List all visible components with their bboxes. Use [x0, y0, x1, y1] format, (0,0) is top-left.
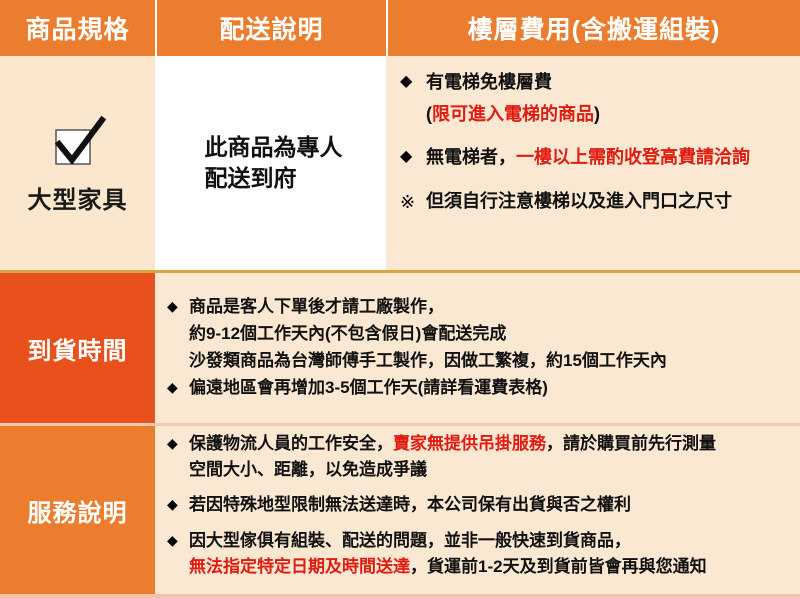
- header-label-floor-fee: 樓層費用(含搬運組裝): [468, 10, 721, 46]
- bullet-continuation: 沙發類商品為台灣師傅手工製作，因做工繁複，約15個工作天內: [167, 349, 790, 373]
- bullet-segment: 但須自行注意樓梯以及進入門口之尺寸: [426, 191, 732, 211]
- row-label-arrival-time: 到貨時間: [28, 331, 128, 366]
- bullet-text: 商品是客人下單後才請工廠製作，: [189, 295, 790, 319]
- header-cell-delivery-note: 配送說明: [157, 0, 386, 56]
- bullet-item: ◆ 保護物流人員的工作安全，賣家無提供吊掛服務，請於購買前先行測量: [167, 432, 790, 456]
- floor-fee-content-cell: ◆ 有電梯免樓層費 (限可進入電梯的商品) ◆ 無電梯者，一樓以上需酌收登高費請…: [386, 56, 800, 270]
- bullet-segment: 無電梯者，: [426, 147, 516, 167]
- bullet-segment: 沙發類商品為台灣師傅手工製作，因做工繁複，約15個工作天內: [189, 351, 667, 370]
- bullet-segment: 偏遠地區會再增加3-5個工作天(請詳看運費表格): [189, 378, 548, 397]
- bullet-segment: 因大型傢俱有組裝、配送的問題，並非一般快速到貨商品，: [189, 531, 631, 550]
- bullet-segment: 約9-12個工作天內(不包含假日)會配送完成: [189, 324, 506, 343]
- bullet-sub-text: (限可進入電梯的商品): [426, 102, 790, 128]
- bullet-continuation: 約9-12個工作天內(不包含假日)會配送完成: [167, 322, 790, 346]
- row-label-cell-arrival-time: 到貨時間: [0, 273, 155, 423]
- diamond-bullet-icon: ◆: [167, 432, 189, 454]
- service-note-content-cell: ◆ 保護物流人員的工作安全，賣家無提供吊掛服務，請於購買前先行測量 空間大小、距…: [155, 426, 800, 594]
- header-cell-floor-fee: 樓層費用(含搬運組裝): [388, 0, 800, 56]
- delivery-note-line-2: 配送到府: [205, 163, 343, 194]
- bullet-item: ◆ 商品是客人下單後才請工廠製作，: [167, 295, 790, 319]
- diamond-bullet-icon: ◆: [167, 295, 189, 317]
- bullet-segment-highlight: 一樓以上需酌收登高費請洽詢: [516, 147, 750, 167]
- delivery-note-cell: 此商品為專人 配送到府: [155, 56, 386, 270]
- bullet-item: ◆ 若因特殊地型限制無法送達時，本公司保有出貨與否之權利: [167, 493, 790, 517]
- bullet-text: 但須自行注意樓梯以及進入門口之尺寸: [426, 189, 790, 215]
- header-label-product-spec: 商品規格: [25, 10, 129, 46]
- delivery-note-text: 此商品為專人 配送到府: [199, 132, 343, 194]
- bullet-item: ◆ 偏遠地區會再增加3-5個工作天(請詳看運費表格): [167, 376, 790, 400]
- reference-mark-icon: ※: [400, 189, 426, 217]
- delivery-info-table: 商品規格 配送說明 樓層費用(含搬運組裝) 大型家具 此商品為專人 配送到府: [0, 0, 800, 595]
- bullet-text: 空間大小、距離，以免造成爭議: [189, 458, 790, 482]
- bullet-text: 保護物流人員的工作安全，賣家無提供吊掛服務，請於購買前先行測量: [189, 432, 790, 456]
- delivery-note-line-1: 此商品為專人: [205, 132, 343, 163]
- diamond-bullet-icon: ◆: [400, 145, 426, 170]
- bullet-item: ◆ 有電梯免樓層費: [400, 70, 790, 96]
- diamond-bullet-icon: ◆: [167, 529, 189, 551]
- bullet-text: 偏遠地區會再增加3-5個工作天(請詳看運費表格): [189, 376, 790, 400]
- bullet-item: ※ 但須自行注意樓梯以及進入門口之尺寸: [400, 189, 790, 217]
- table-row-arrival-time: 到貨時間 ◆ 商品是客人下單後才請工廠製作， 約9-12個工作天內(不包含假日)…: [0, 273, 800, 423]
- bullet-text: 沙發類商品為台灣師傅手工製作，因做工繁複，約15個工作天內: [189, 349, 790, 373]
- bullet-text: 有電梯免樓層費: [426, 70, 790, 96]
- paren-close: ): [594, 104, 600, 124]
- bullet-text: 無法指定特定日期及時間送達，貨運前1-2天及到貨前皆會再與您通知: [189, 555, 790, 579]
- bullet-continuation: 空間大小、距離，以免造成爭議: [167, 458, 790, 482]
- diamond-bullet-icon: ◆: [167, 493, 189, 515]
- row-label-cell-large-furniture: 大型家具: [0, 56, 155, 270]
- table-header-row: 商品規格 配送說明 樓層費用(含搬運組裝): [0, 0, 800, 56]
- table-row-large-furniture: 大型家具 此商品為專人 配送到府 ◆ 有電梯免樓層費 (限可進入電梯的商品) ◆…: [0, 56, 800, 270]
- bullet-segment: 保護物流人員的工作安全，: [189, 434, 393, 453]
- bullet-segment: ，請於購買前先行測量: [546, 434, 716, 453]
- bullet-segment-highlight: 賣家無提供吊掛服務: [393, 434, 546, 453]
- row-label-service-note: 服務說明: [28, 493, 128, 528]
- bullet-segment: 空間大小、距離，以免造成爭議: [189, 460, 427, 479]
- diamond-bullet-icon: ◆: [167, 376, 189, 398]
- bullet-continuation: 無法指定特定日期及時間送達，貨運前1-2天及到貨前皆會再與您通知: [167, 555, 790, 579]
- row-label-cell-service-note: 服務說明: [0, 426, 155, 594]
- header-label-delivery-note: 配送說明: [219, 10, 323, 46]
- bullet-segment-highlight: 無法指定特定日期及時間送達: [189, 557, 410, 576]
- bullet-item: ◆ 因大型傢俱有組裝、配送的問題，並非一般快速到貨商品，: [167, 529, 790, 553]
- bullet-text: 無電梯者，一樓以上需酌收登高費請洽詢: [426, 145, 790, 171]
- bullet-segment-highlight: 限可進入電梯的商品: [432, 104, 594, 124]
- bullet-text: 因大型傢俱有組裝、配送的問題，並非一般快速到貨商品，: [189, 529, 790, 553]
- checkbox-checked-icon: [48, 112, 108, 172]
- header-cell-product-spec: 商品規格: [0, 0, 155, 56]
- diamond-bullet-icon: ◆: [400, 70, 426, 95]
- bullet-text: 若因特殊地型限制無法送達時，本公司保有出貨與否之權利: [189, 493, 790, 517]
- arrival-time-content-cell: ◆ 商品是客人下單後才請工廠製作， 約9-12個工作天內(不包含假日)會配送完成…: [155, 273, 800, 423]
- bullet-sub-item: (限可進入電梯的商品): [400, 102, 790, 128]
- table-row-service-note: 服務說明 ◆ 保護物流人員的工作安全，賣家無提供吊掛服務，請於購買前先行測量 空…: [0, 426, 800, 594]
- bullet-text: 約9-12個工作天內(不包含假日)會配送完成: [189, 322, 790, 346]
- bullet-segment: ，貨運前1-2天及到貨前皆會再與您通知: [410, 557, 707, 576]
- bullet-segment: 商品是客人下單後才請工廠製作，: [189, 297, 444, 316]
- row-label-large-furniture: 大型家具: [28, 180, 128, 215]
- bullet-item: ◆ 無電梯者，一樓以上需酌收登高費請洽詢: [400, 145, 790, 171]
- bullet-segment: 若因特殊地型限制無法送達時，本公司保有出貨與否之權利: [189, 495, 631, 514]
- bullet-segment: 有電梯免樓層費: [426, 72, 552, 92]
